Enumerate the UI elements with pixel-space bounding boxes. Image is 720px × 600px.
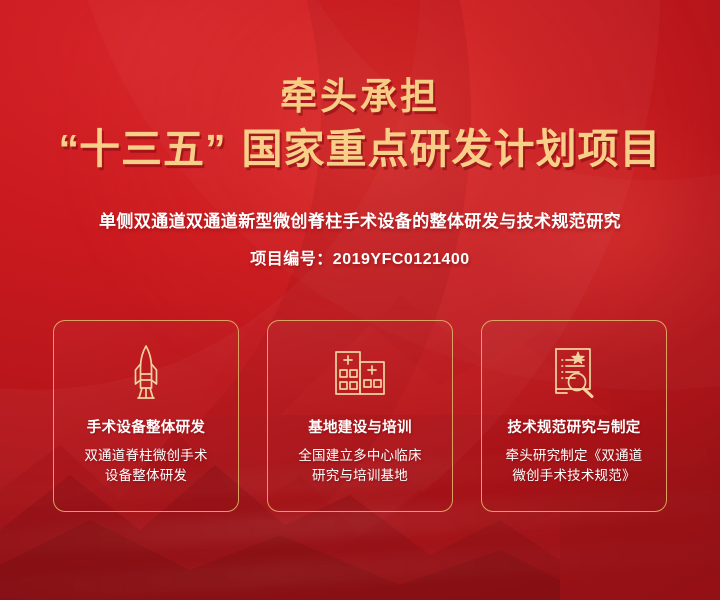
feature-card-title: 技术规范研究与制定 [507, 416, 640, 437]
poster-content: 牵头承担 “十三五”国家重点研发计划项目 单侧双通道双通道新型微创脊柱手术设备的… [0, 0, 720, 600]
feature-card-title: 手术设备整体研发 [87, 416, 205, 437]
project-subtitle: 单侧双通道双通道新型微创脊柱手术设备的整体研发与技术规范研究 [0, 207, 720, 232]
feature-card-desc-line-1: 双通道脊柱微创手术 [62, 446, 230, 466]
headline-block: 牵头承担 “十三五”国家重点研发计划项目 [0, 78, 720, 173]
feature-card-description: 双通道脊柱微创手术 设备整体研发 [62, 446, 230, 487]
rocket-icon [125, 345, 167, 399]
feature-card-equipment[interactable]: 手术设备整体研发 双通道脊柱微创手术 设备整体研发 [53, 320, 239, 512]
feature-card-standards[interactable]: 技术规范研究与制定 牵头研究制定《双通道 微创手术技术规范》 [481, 320, 667, 512]
poster-banner: 牵头承担 “十三五”国家重点研发计划项目 单侧双通道双通道新型微创脊柱手术设备的… [0, 0, 720, 600]
hospital-building-icon [333, 345, 387, 399]
feature-card-training-base[interactable]: 基地建设与培训 全国建立多中心临床 研究与培训基地 [267, 320, 453, 512]
feature-card-list: 手术设备整体研发 双通道脊柱微创手术 设备整体研发 [53, 320, 667, 512]
document-magnifier-icon [549, 345, 599, 399]
feature-card-desc-line-1: 全国建立多中心临床 [276, 446, 444, 466]
feature-card-desc-line-2: 设备整体研发 [62, 466, 230, 486]
feature-card-title: 基地建设与培训 [308, 416, 412, 437]
headline-quote-open: “ [59, 126, 80, 172]
feature-card-desc-line-1: 牵头研究制定《双通道 [490, 446, 658, 466]
headline-rest: 国家重点研发计划项目 [242, 126, 662, 172]
feature-card-desc-line-2: 微创手术技术规范》 [490, 466, 658, 486]
project-number: 项目编号：2019YFC0121400 [0, 245, 720, 269]
headline-line-1: 牵头承担 [0, 78, 720, 116]
headline-quote-close: ” [205, 126, 226, 172]
feature-card-description: 牵头研究制定《双通道 微创手术技术规范》 [490, 446, 658, 487]
headline-line-2: “十三五”国家重点研发计划项目 [0, 127, 720, 173]
headline-keyword: 十三五 [79, 126, 205, 172]
feature-card-desc-line-2: 研究与培训基地 [276, 466, 444, 486]
feature-card-description: 全国建立多中心临床 研究与培训基地 [276, 446, 444, 487]
